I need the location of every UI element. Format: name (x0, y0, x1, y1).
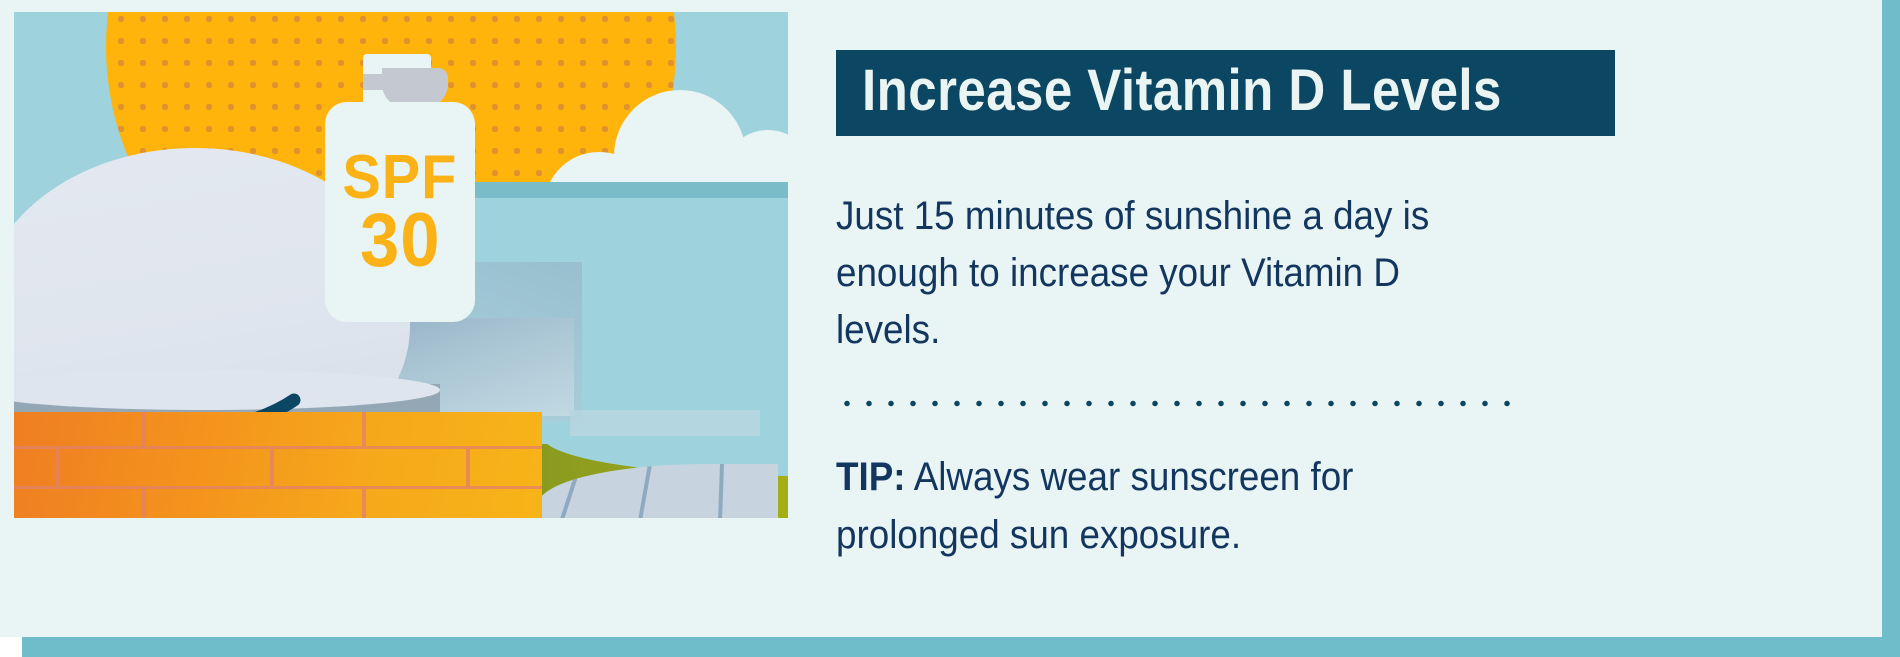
brick-mortar-line (56, 449, 60, 486)
brick-mortar-line (362, 412, 366, 446)
brick-mortar-line (362, 489, 366, 518)
brick-mortar-line (142, 412, 146, 446)
page-title: Increase Vitamin D Levels (862, 62, 1502, 120)
bottle-label-30: 30 (360, 206, 440, 276)
path-seam (717, 464, 724, 518)
stone-path (538, 464, 778, 518)
brick-mortar-line (14, 446, 542, 449)
left-margin-strip (0, 0, 14, 657)
infographic-panel: SPF 30 Increase Vitamin D Levels Just 15… (0, 0, 1900, 657)
brick-mortar-line (270, 449, 274, 486)
brick-wall (14, 412, 542, 518)
path-seam (634, 464, 652, 518)
sunscreen-bottle-icon: SPF 30 (325, 54, 475, 322)
illustration-sunscreen-scene: SPF 30 (14, 12, 788, 518)
tip-paragraph: TIP: Always wear sunscreen for prolonged… (836, 448, 1498, 564)
brick-mortar-line (466, 449, 470, 486)
body-paragraph: Just 15 minutes of sunshine a day is eno… (836, 188, 1498, 358)
frame-corner-gap (0, 637, 22, 657)
tip-body: Always wear sunscreen for prolonged sun … (836, 455, 1353, 557)
frame-border-bottom (22, 637, 1900, 657)
bottle-label: SPF 30 (325, 102, 475, 322)
frame-border-right (1882, 0, 1900, 639)
dotted-divider (836, 400, 1526, 407)
brick-mortar-line (142, 489, 146, 518)
text-content-column: Increase Vitamin D Levels Just 15 minute… (836, 0, 1876, 639)
brick-mortar-line (14, 486, 542, 489)
title-banner: Increase Vitamin D Levels (836, 50, 1615, 136)
tip-label: TIP: (836, 455, 906, 499)
